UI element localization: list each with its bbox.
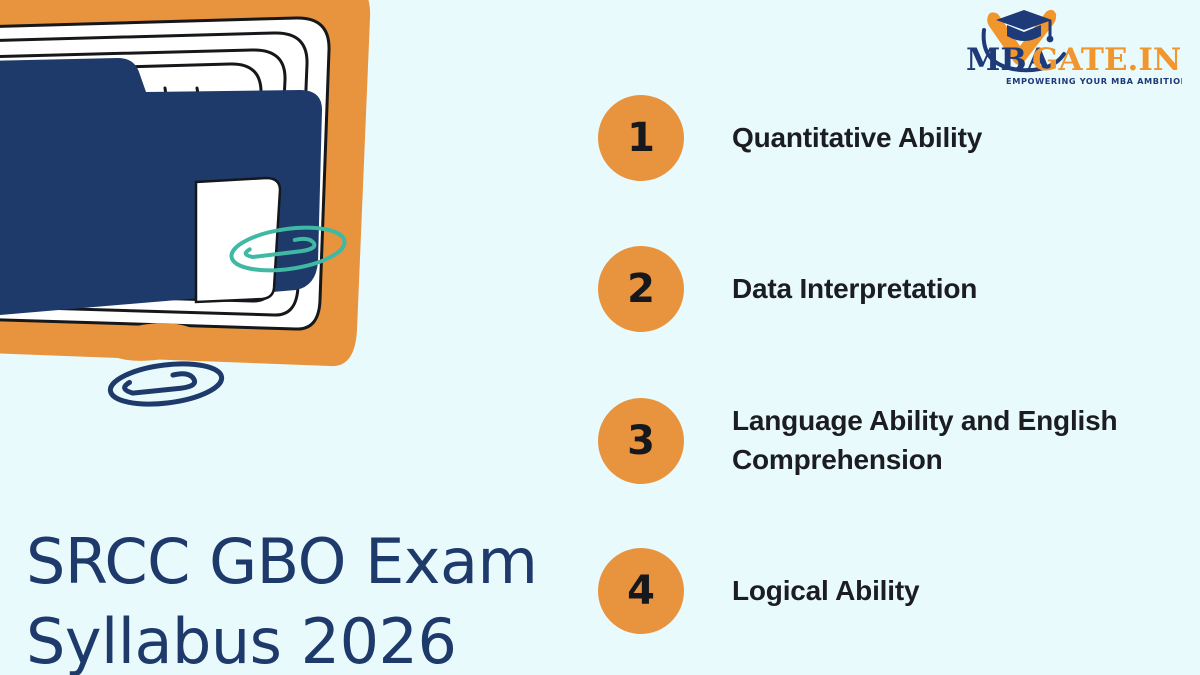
syllabus-item-1-label: Quantitative Ability [732, 119, 982, 158]
white-card [196, 178, 280, 302]
syllabus-item-1-number: 1 [598, 95, 684, 181]
syllabus-item-4[interactable]: 4 Logical Ability [598, 541, 1188, 641]
syllabus-item-2-number: 2 [598, 246, 684, 332]
syllabus-item-3-label: Language Ability and English Comprehensi… [732, 402, 1172, 479]
syllabus-item-2[interactable]: 2 Data Interpretation [598, 239, 1188, 339]
syllabus-item-4-label: Logical Ability [732, 572, 919, 611]
infographic-canvas: SRCC GBO Exam Syllabus 2026 MBA GATE.IN [0, 0, 1200, 675]
page-title-line-1: SRCC GBO Exam [26, 522, 586, 603]
page-title: SRCC GBO Exam Syllabus 2026 [26, 522, 586, 675]
logo-text-gate: GATE.IN [1032, 42, 1181, 78]
navy-paperclip-icon [108, 358, 224, 409]
syllabus-item-2-label: Data Interpretation [732, 270, 977, 309]
logo-tagline: EMPOWERING YOUR MBA AMBITIONS [1006, 76, 1182, 86]
syllabus-item-3-number: 3 [598, 398, 684, 484]
syllabus-item-4-number: 4 [598, 548, 684, 634]
syllabus-item-1[interactable]: 1 Quantitative Ability [598, 88, 1188, 188]
syllabus-item-3[interactable]: 3 Language Ability and English Comprehen… [598, 391, 1188, 491]
page-title-line-2: Syllabus 2026 [26, 602, 586, 675]
brand-logo[interactable]: MBA GATE.IN EMPOWERING YOUR MBA AMBITION… [960, 4, 1182, 88]
file-folder-illustration [0, 0, 420, 420]
